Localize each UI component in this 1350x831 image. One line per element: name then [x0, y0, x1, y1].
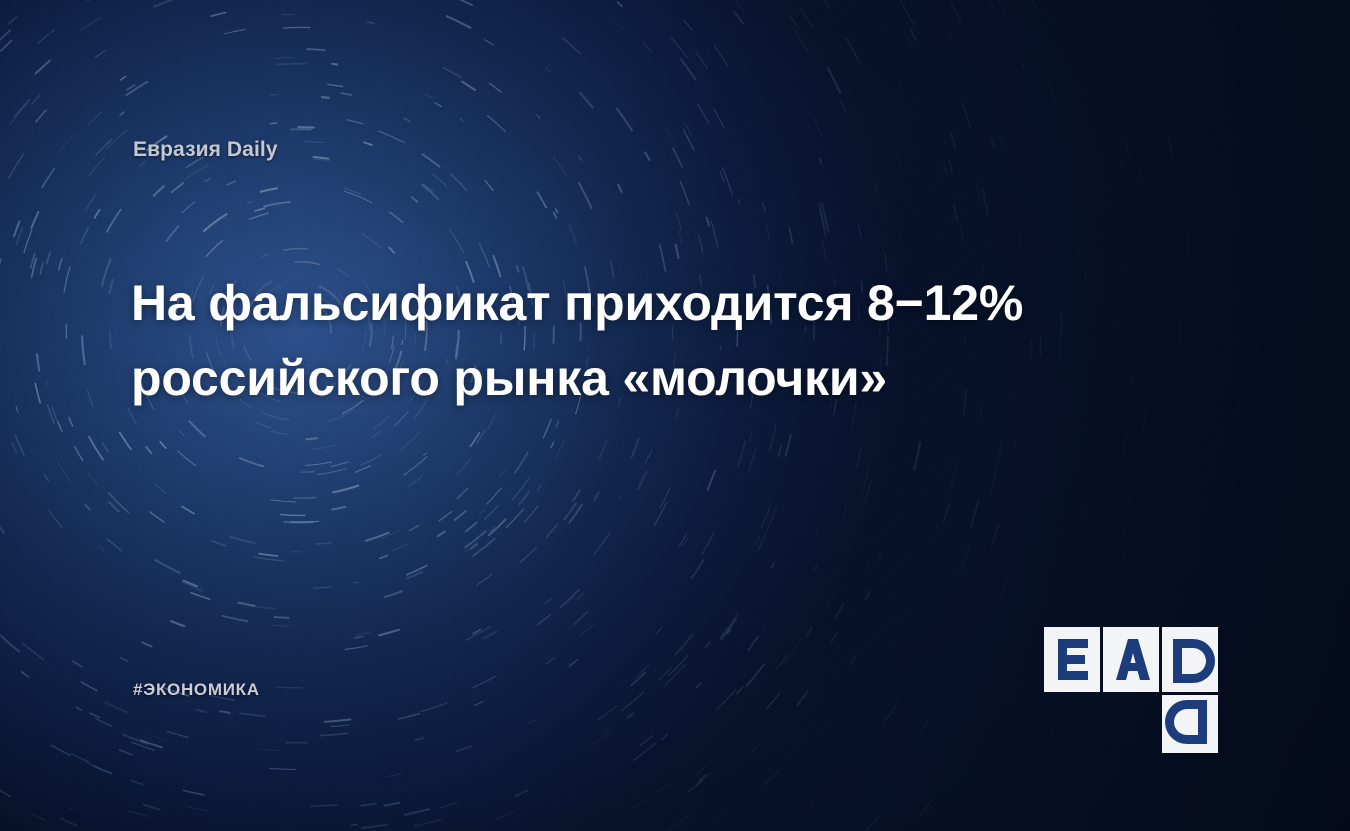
page-title: На фальсификат приходится 8−12% российск… — [131, 266, 1131, 416]
logo-tile-e — [1044, 627, 1100, 692]
headline-line-2: российского рынка «молочки» — [131, 341, 1131, 416]
brand-wordmark: Евразия Daily — [133, 138, 278, 162]
headline-line-1: На фальсификат приходится 8−12% — [131, 266, 1131, 341]
eadaily-logo[interactable] — [1043, 626, 1223, 754]
logo-tile-d-lower — [1162, 695, 1218, 753]
category-hashtag[interactable]: #ЭКОНОМИКА — [133, 680, 260, 700]
logo-tile-a — [1103, 627, 1159, 692]
logo-tile-d-upper — [1162, 627, 1218, 692]
eadaily-share-card: Евразия Daily На фальсификат приходится … — [0, 0, 1350, 831]
